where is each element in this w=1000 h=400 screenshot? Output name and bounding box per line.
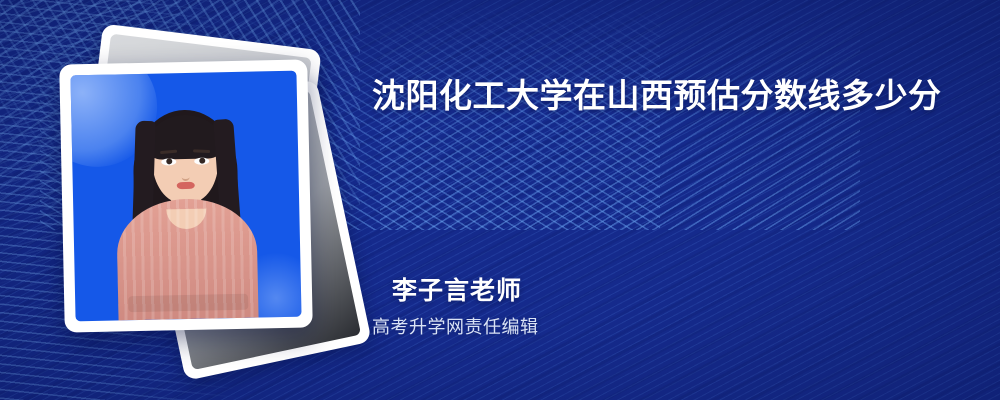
- author-role: 高考升学网责任编辑: [372, 315, 539, 339]
- author-portrait-photo: [70, 71, 301, 322]
- page-title: 沈阳化工大学在山西预估分数线多少分: [372, 70, 952, 122]
- nose-shape: [182, 173, 190, 181]
- dress-waistline: [128, 294, 248, 313]
- headline-block: 沈阳化工大学在山西预估分数线多少分: [372, 70, 972, 122]
- article-header-banner: 沈阳化工大学在山西预估分数线多少分 李子言老师 高考升学网责任编辑: [0, 0, 1000, 400]
- author-photo-card: [59, 59, 313, 332]
- right-eye: [194, 157, 209, 164]
- author-name: 李子言老师: [392, 274, 539, 308]
- portrait-figure: [70, 71, 301, 322]
- author-byline: 李子言老师 高考升学网责任编辑: [392, 274, 539, 339]
- photo-card-stack: [46, 30, 346, 370]
